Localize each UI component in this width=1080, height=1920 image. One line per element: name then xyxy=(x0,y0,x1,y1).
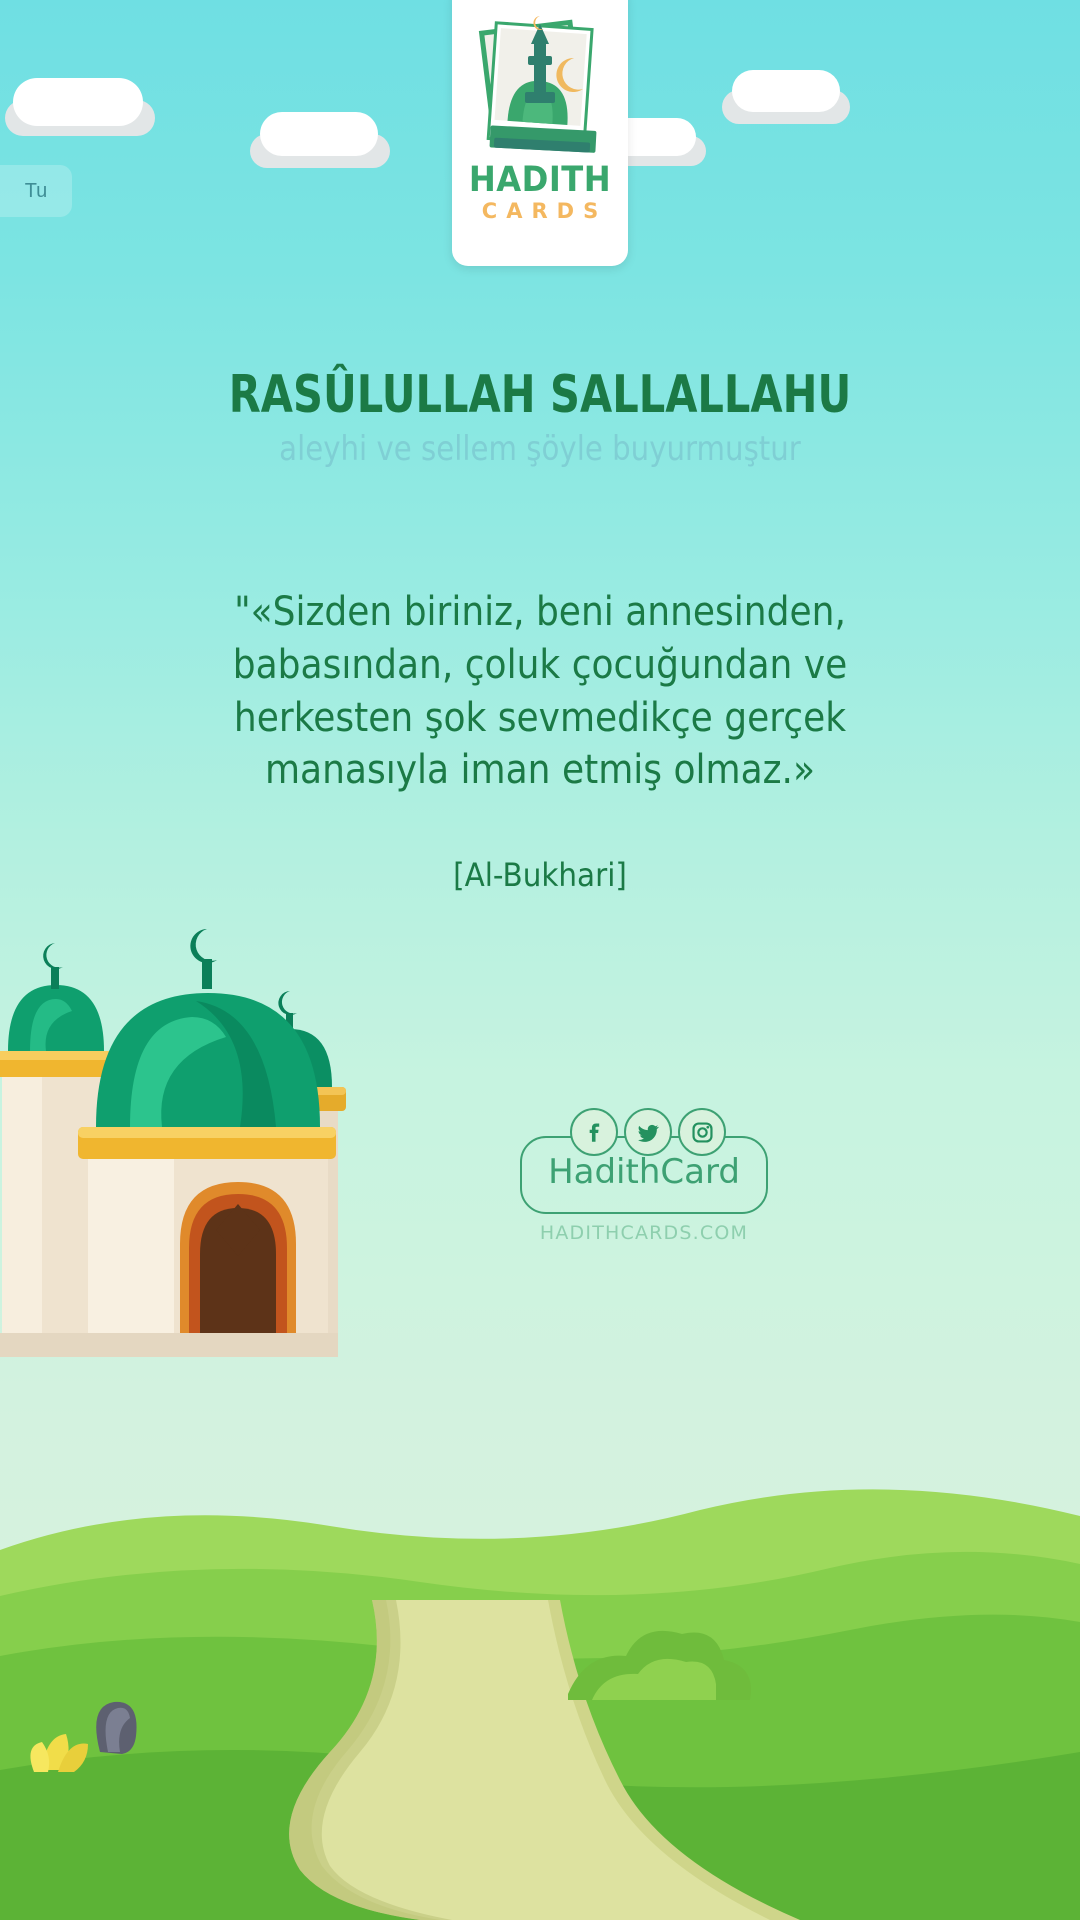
instagram-icon[interactable] xyxy=(678,1108,726,1156)
brand-logo-card[interactable]: HADITH CARDS xyxy=(452,0,628,266)
hadith-source-attribution: [Al-Bukhari] xyxy=(43,856,1037,894)
rock-icon xyxy=(96,1702,136,1754)
hadith-card: Tu xyxy=(0,0,1080,1920)
twitter-icon[interactable] xyxy=(624,1108,672,1156)
logo-title: HADITH xyxy=(459,160,621,200)
quote-line: babasından, çoluk çocuğundan ve xyxy=(135,639,945,692)
language-tab[interactable]: Tu xyxy=(0,165,72,217)
cloud-center-left xyxy=(250,112,390,170)
footer-website-url: HADITHCARDS.COM xyxy=(520,1222,768,1244)
hadith-quote-text: "«Sizden biriniz, beni annesinden, babas… xyxy=(135,586,945,797)
mosque-main-hall xyxy=(78,929,336,1340)
header-block: RASÛLULLAH SALLALLAHU aleyhi ve sellem ş… xyxy=(0,368,1080,468)
quote-line: herkesten şok sevmedikçe gerçek xyxy=(135,692,945,745)
landscape-illustration xyxy=(0,1300,1080,1920)
cloud-left xyxy=(5,78,155,138)
footer-brand-name: HadithCard xyxy=(520,1152,768,1192)
language-tab-label: Tu xyxy=(25,180,48,203)
footer-brand-badge[interactable]: HadithCard HADITHCARDS.COM xyxy=(520,1108,780,1253)
mosque-illustration xyxy=(0,915,370,1385)
logo-subtitle: CARDS xyxy=(452,199,628,223)
mosque-photo-card-icon xyxy=(452,0,628,160)
page-subtitle: aleyhi ve sellem şöyle buyurmuştur xyxy=(76,431,1005,468)
page-title: RASÛLULLAH SALLALLAHU xyxy=(108,368,972,423)
quote-line: "«Sizden biriniz, beni annesinden, xyxy=(135,586,945,639)
facebook-icon[interactable] xyxy=(570,1108,618,1156)
cloud-right xyxy=(722,70,850,126)
quote-line: manasıyla iman etmiş olmaz.» xyxy=(135,744,945,797)
